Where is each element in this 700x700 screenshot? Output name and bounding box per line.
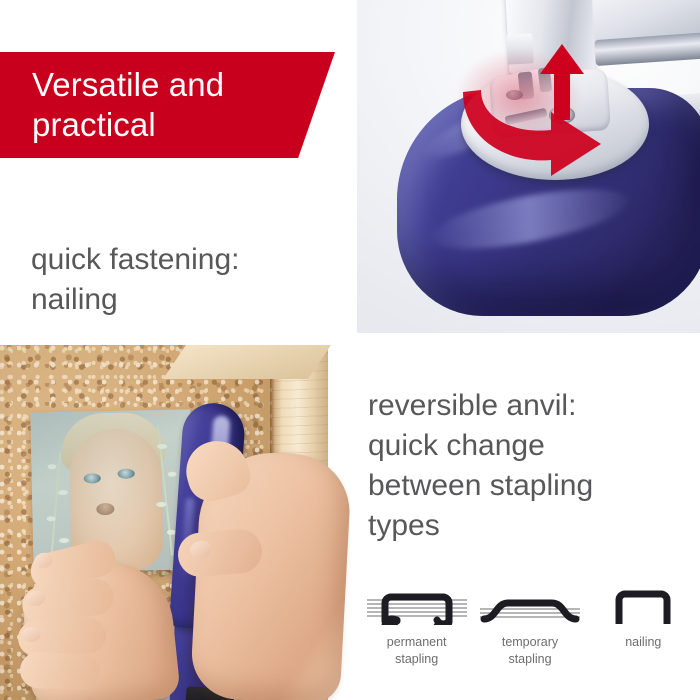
headline-text: Versatile and practical — [0, 65, 224, 146]
staple-type-nailing: nailing — [588, 586, 698, 651]
rotation-arrow-icon — [455, 48, 619, 176]
nailing-staple-icon — [612, 586, 674, 630]
staple-type-caption: permanent stapling — [387, 634, 447, 667]
feature-caption-reversible-anvil: reversible anvil: quick change between s… — [368, 386, 688, 546]
staple-type-legend: permanent stapling temporary stapling — [360, 586, 700, 682]
headline-banner: Versatile and practical — [0, 52, 335, 158]
staple-type-caption: nailing — [625, 634, 661, 651]
feature-caption-nailing: quick fastening: nailing — [31, 240, 331, 320]
frame-top-miter — [163, 345, 331, 379]
staple-type-caption: temporary stapling — [502, 634, 558, 667]
permanent-staple-icon — [365, 586, 469, 630]
stapler-reversible-anvil-photo — [357, 0, 700, 333]
marketing-panel: Versatile and practical quick fastening:… — [0, 0, 700, 700]
up-arrow-icon — [540, 44, 584, 120]
temporary-staple-icon — [478, 586, 582, 630]
left-hand-finger — [19, 652, 100, 691]
corkboard-nailing-photo — [0, 345, 350, 700]
staple-type-temporary: temporary stapling — [475, 586, 585, 667]
staple-type-permanent: permanent stapling — [362, 586, 472, 667]
